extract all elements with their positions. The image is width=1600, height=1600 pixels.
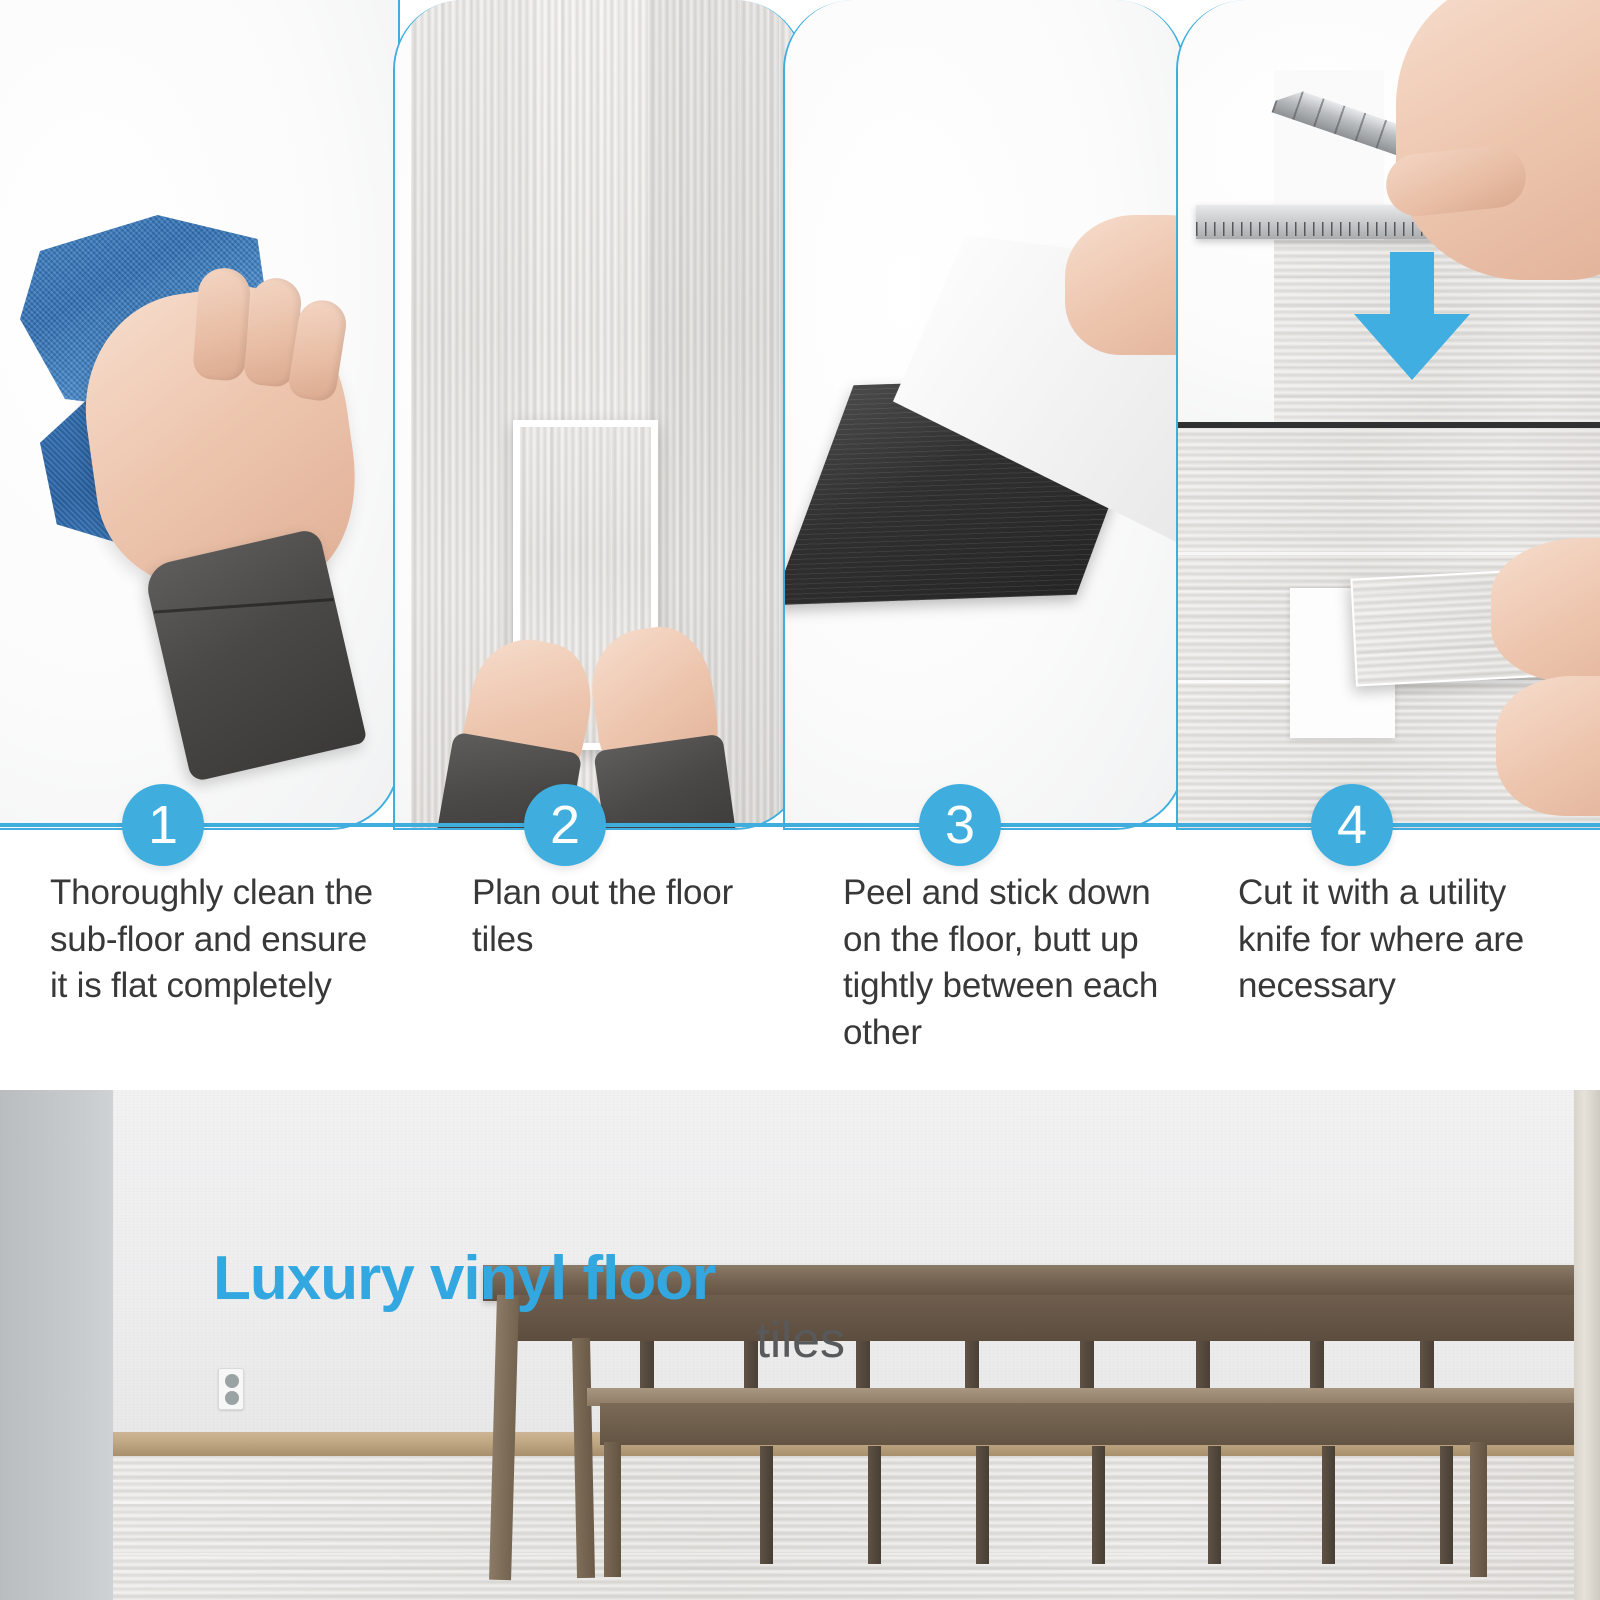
chair-leg-4: [1092, 1446, 1105, 1564]
step-image-4: [1176, 0, 1600, 830]
wall-corner-right: [1574, 1090, 1600, 1600]
hero-title-block: Luxury vinyl floor tiles: [213, 1246, 853, 1368]
infographic-page: 1 2 3 4 Thoroughly clean the sub-floor a…: [0, 0, 1600, 1600]
step-caption-1: Thoroughly clean the sub-floor and ensur…: [50, 870, 380, 1010]
chair-leg-2: [868, 1446, 881, 1564]
placing-sub-image: [1178, 428, 1600, 830]
hero-title-main: Luxury vinyl floor: [213, 1246, 853, 1311]
step-image-3: [783, 0, 1185, 830]
floor-seam-1: [113, 1502, 1600, 1504]
hand-peeling: [1065, 215, 1185, 355]
chair-leg-5: [1208, 1446, 1221, 1564]
bench-leg-2: [1470, 1442, 1487, 1577]
hand-holding-knife: [1396, 0, 1600, 280]
hand-lower: [1496, 676, 1600, 816]
finger-index: [192, 266, 252, 381]
bench-apron: [600, 1403, 1576, 1445]
wall-corner-left: [0, 1090, 113, 1600]
step-captions: Thoroughly clean the sub-floor and ensur…: [0, 870, 1600, 1085]
chair-leg-3: [976, 1446, 989, 1564]
step-caption-3: Peel and stick down on the floor, butt u…: [843, 870, 1183, 1056]
vinyl-plank-floor: [113, 1456, 1600, 1600]
step-badge-1: 1: [122, 784, 204, 866]
right-sleeve: [593, 734, 738, 830]
hero-room-photo: Luxury vinyl floor tiles: [0, 1090, 1600, 1600]
wall-outlet: [218, 1368, 244, 1410]
step-badge-4: 4: [1311, 784, 1393, 866]
step-image-1: [0, 0, 400, 830]
blue-down-arrow-icon: [1352, 252, 1472, 382]
step-badge-2: 2: [524, 784, 606, 866]
floor-seam-2: [113, 1553, 1600, 1555]
hero-title-sub: tiles: [213, 1313, 853, 1368]
step-image-2: [393, 0, 805, 830]
step-image-panels: [0, 0, 1600, 830]
chair-leg-1: [760, 1446, 773, 1564]
chair-leg-7: [1440, 1446, 1453, 1564]
chair-leg-6: [1322, 1446, 1335, 1564]
step-caption-4: Cut it with a utility knife for where ar…: [1238, 870, 1568, 1010]
steps-section: 1 2 3 4 Thoroughly clean the sub-floor a…: [0, 0, 1600, 1090]
bench-leg-1: [604, 1442, 621, 1577]
sleeve-seam: [154, 598, 334, 614]
step-caption-2: Plan out the floor tiles: [472, 870, 802, 963]
step-badge-3: 3: [919, 784, 1001, 866]
